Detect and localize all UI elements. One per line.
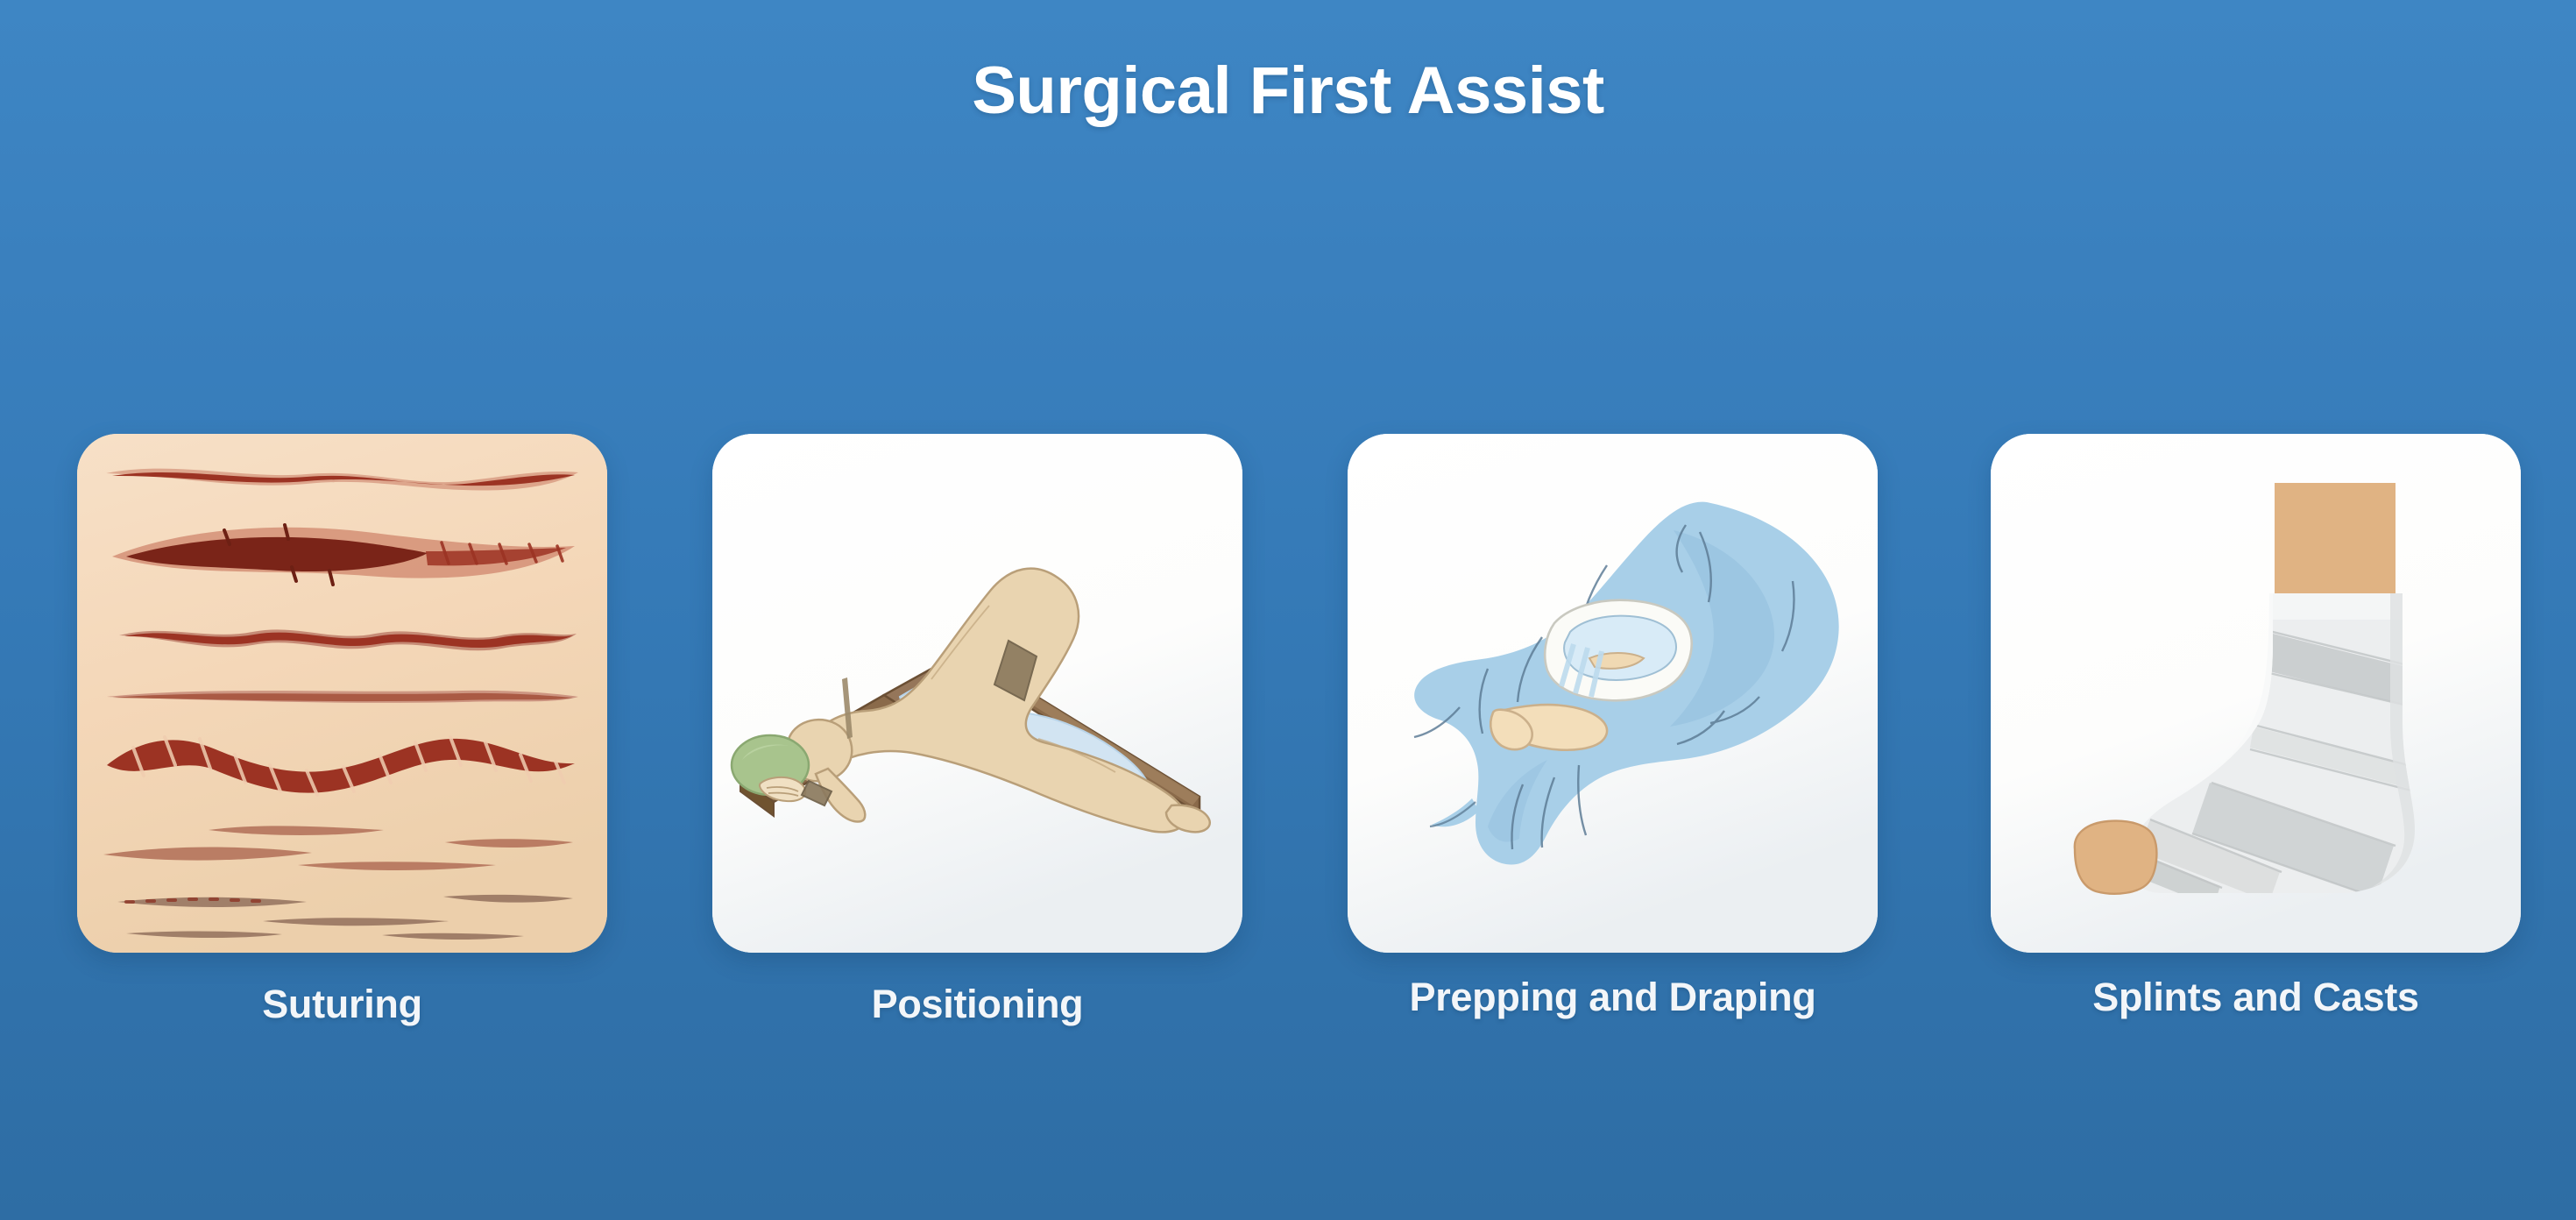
laceration-wounds-illustration	[77, 434, 607, 953]
card-suturing[interactable]: Suturing	[77, 434, 607, 953]
card-row: Suturing	[0, 434, 2576, 1100]
card-prepping-and-draping-tile[interactable]	[1348, 434, 1878, 953]
card-caption-positioning: Positioning	[712, 982, 1242, 1027]
card-prepping-and-draping[interactable]: Prepping and Draping	[1348, 434, 1878, 953]
page-title: Surgical First Assist	[0, 58, 2576, 124]
surgical-drape-fenestration-illustration	[1348, 434, 1878, 953]
card-positioning[interactable]: Positioning	[712, 434, 1242, 953]
card-caption-suturing: Suturing	[77, 982, 607, 1027]
patient-jackknife-position-illustration	[712, 434, 1242, 953]
card-suturing-tile[interactable]	[77, 434, 607, 953]
card-positioning-tile[interactable]	[712, 434, 1242, 953]
card-caption-prepping-and-draping: Prepping and Draping	[1348, 975, 1878, 1020]
card-splints-and-casts-tile[interactable]	[1991, 434, 2521, 953]
card-splints-and-casts[interactable]: Splints and Casts	[1991, 434, 2521, 953]
slide-root: Surgical First Assist	[0, 0, 2576, 1220]
bandaged-foot-cast-illustration	[1991, 434, 2521, 953]
card-caption-splints-and-casts: Splints and Casts	[1991, 975, 2521, 1020]
